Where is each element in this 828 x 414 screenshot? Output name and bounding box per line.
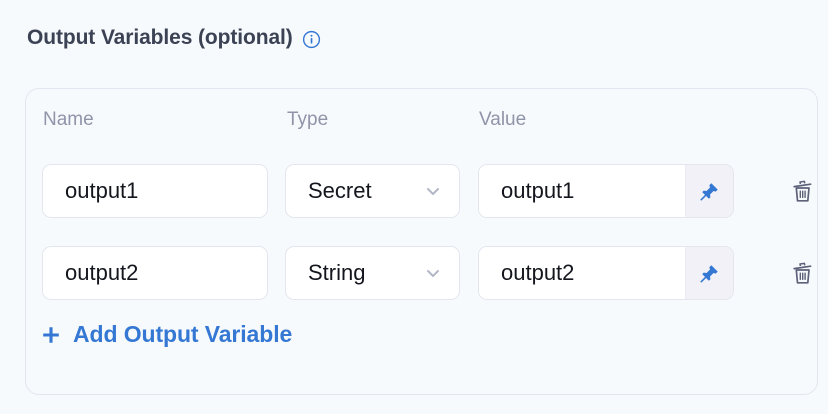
column-header-type: Type	[287, 109, 328, 131]
delete-row-button[interactable]	[788, 259, 818, 289]
variable-value-group: output1	[478, 164, 734, 218]
variable-name-input[interactable]: output1	[42, 164, 268, 218]
delete-row-button[interactable]	[788, 177, 818, 207]
table-row: output1 Secret output1	[26, 164, 817, 218]
trash-icon	[790, 261, 816, 287]
variable-value-input[interactable]: output2	[479, 247, 686, 299]
section-header: Output Variables (optional)	[27, 26, 321, 50]
variable-value-group: output2	[478, 246, 734, 300]
output-variables-card: Name Type Value output1 Secret output1	[25, 88, 818, 395]
variable-type-value: Secret	[308, 178, 372, 204]
table-row: output2 String output2	[26, 246, 817, 300]
chevron-down-icon	[423, 263, 443, 283]
trash-icon	[790, 179, 816, 205]
table-column-headers: Name Type Value	[26, 109, 817, 137]
output-variable-rows: output1 Secret output1	[26, 164, 817, 328]
variable-type-select[interactable]: Secret	[285, 164, 460, 218]
plus-icon	[40, 324, 62, 346]
add-output-variable-label: Add Output Variable	[73, 321, 292, 348]
page-title: Output Variables (optional)	[27, 26, 293, 50]
pin-icon	[699, 181, 720, 202]
output-variables-panel: Output Variables (optional) Name Type Va…	[0, 0, 828, 414]
variable-type-select[interactable]: String	[285, 246, 460, 300]
variable-value-input[interactable]: output1	[479, 165, 686, 217]
pin-button[interactable]	[686, 165, 733, 217]
add-output-variable-button[interactable]: Add Output Variable	[40, 321, 292, 348]
variable-name-input[interactable]: output2	[42, 246, 268, 300]
column-header-name: Name	[43, 109, 94, 131]
column-header-value: Value	[479, 109, 526, 131]
info-circle-icon[interactable]	[302, 30, 321, 49]
pin-icon	[699, 263, 720, 284]
chevron-down-icon	[423, 181, 443, 201]
variable-type-value: String	[308, 260, 365, 286]
pin-button[interactable]	[686, 247, 733, 299]
